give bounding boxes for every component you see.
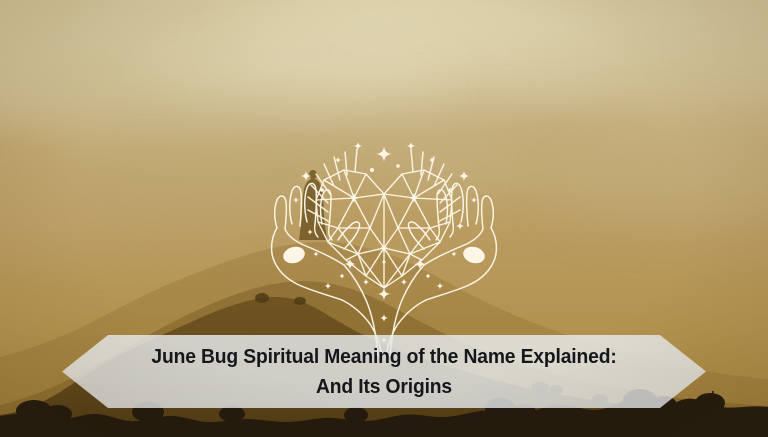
page-title: June Bug Spiritual Meaning of the Name E…	[81, 342, 686, 400]
wrist-gem-oval-right	[461, 244, 487, 265]
hands-holding-heart-illustration	[254, 136, 514, 356]
left-hand-line-art	[272, 183, 382, 356]
geometric-heart	[316, 170, 452, 288]
wrist-gem-oval-left	[281, 244, 307, 265]
right-hand-line-art	[386, 183, 496, 356]
title-banner: June Bug Spiritual Meaning of the Name E…	[62, 335, 706, 408]
hero-banner-image: June Bug Spiritual Meaning of the Name E…	[0, 0, 768, 437]
sparkle-stars	[293, 142, 477, 343]
